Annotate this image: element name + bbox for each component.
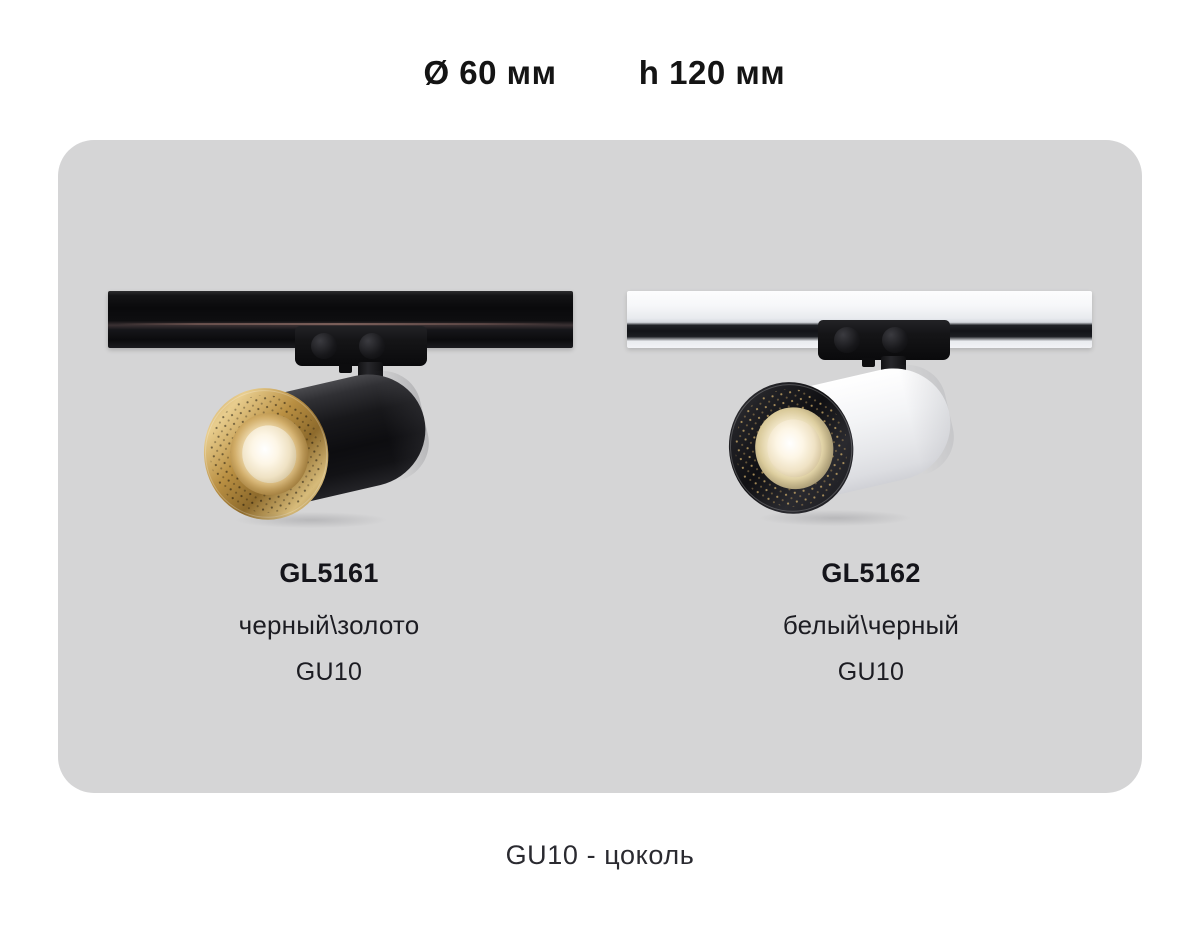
product-card: GL5161 черный\золото GU10 bbox=[58, 140, 1142, 793]
drop-shadow bbox=[236, 512, 386, 528]
product-labels-gl5161: GL5161 черный\золото GU10 bbox=[58, 558, 600, 687]
product-item-gl5161[interactable]: GL5161 черный\золото GU10 bbox=[58, 140, 600, 793]
product-socket: GU10 bbox=[600, 658, 1142, 687]
product-item-gl5162[interactable]: GL5162 белый\черный GU10 bbox=[600, 140, 1142, 793]
fixture-illustration-gl5161 bbox=[58, 140, 600, 558]
fixture-illustration-gl5162 bbox=[600, 140, 1142, 558]
product-colorway: белый\черный bbox=[600, 610, 1142, 641]
adapter-knob-icon bbox=[834, 327, 860, 353]
dimensions-header: Ø 60 мм h 120 мм bbox=[0, 48, 1200, 98]
socket-caption: GU10 - цоколь bbox=[0, 840, 1200, 871]
height-label: h 120 мм bbox=[562, 48, 862, 98]
product-code: GL5162 bbox=[600, 558, 1142, 589]
product-socket: GU10 bbox=[58, 658, 600, 687]
adapter-knob-icon bbox=[311, 333, 337, 359]
drop-shadow bbox=[760, 510, 910, 526]
product-colorway: черный\золото bbox=[58, 610, 600, 641]
product-code: GL5161 bbox=[58, 558, 600, 589]
spotlight-body-white bbox=[714, 338, 972, 536]
product-labels-gl5162: GL5162 белый\черный GU10 bbox=[600, 558, 1142, 687]
